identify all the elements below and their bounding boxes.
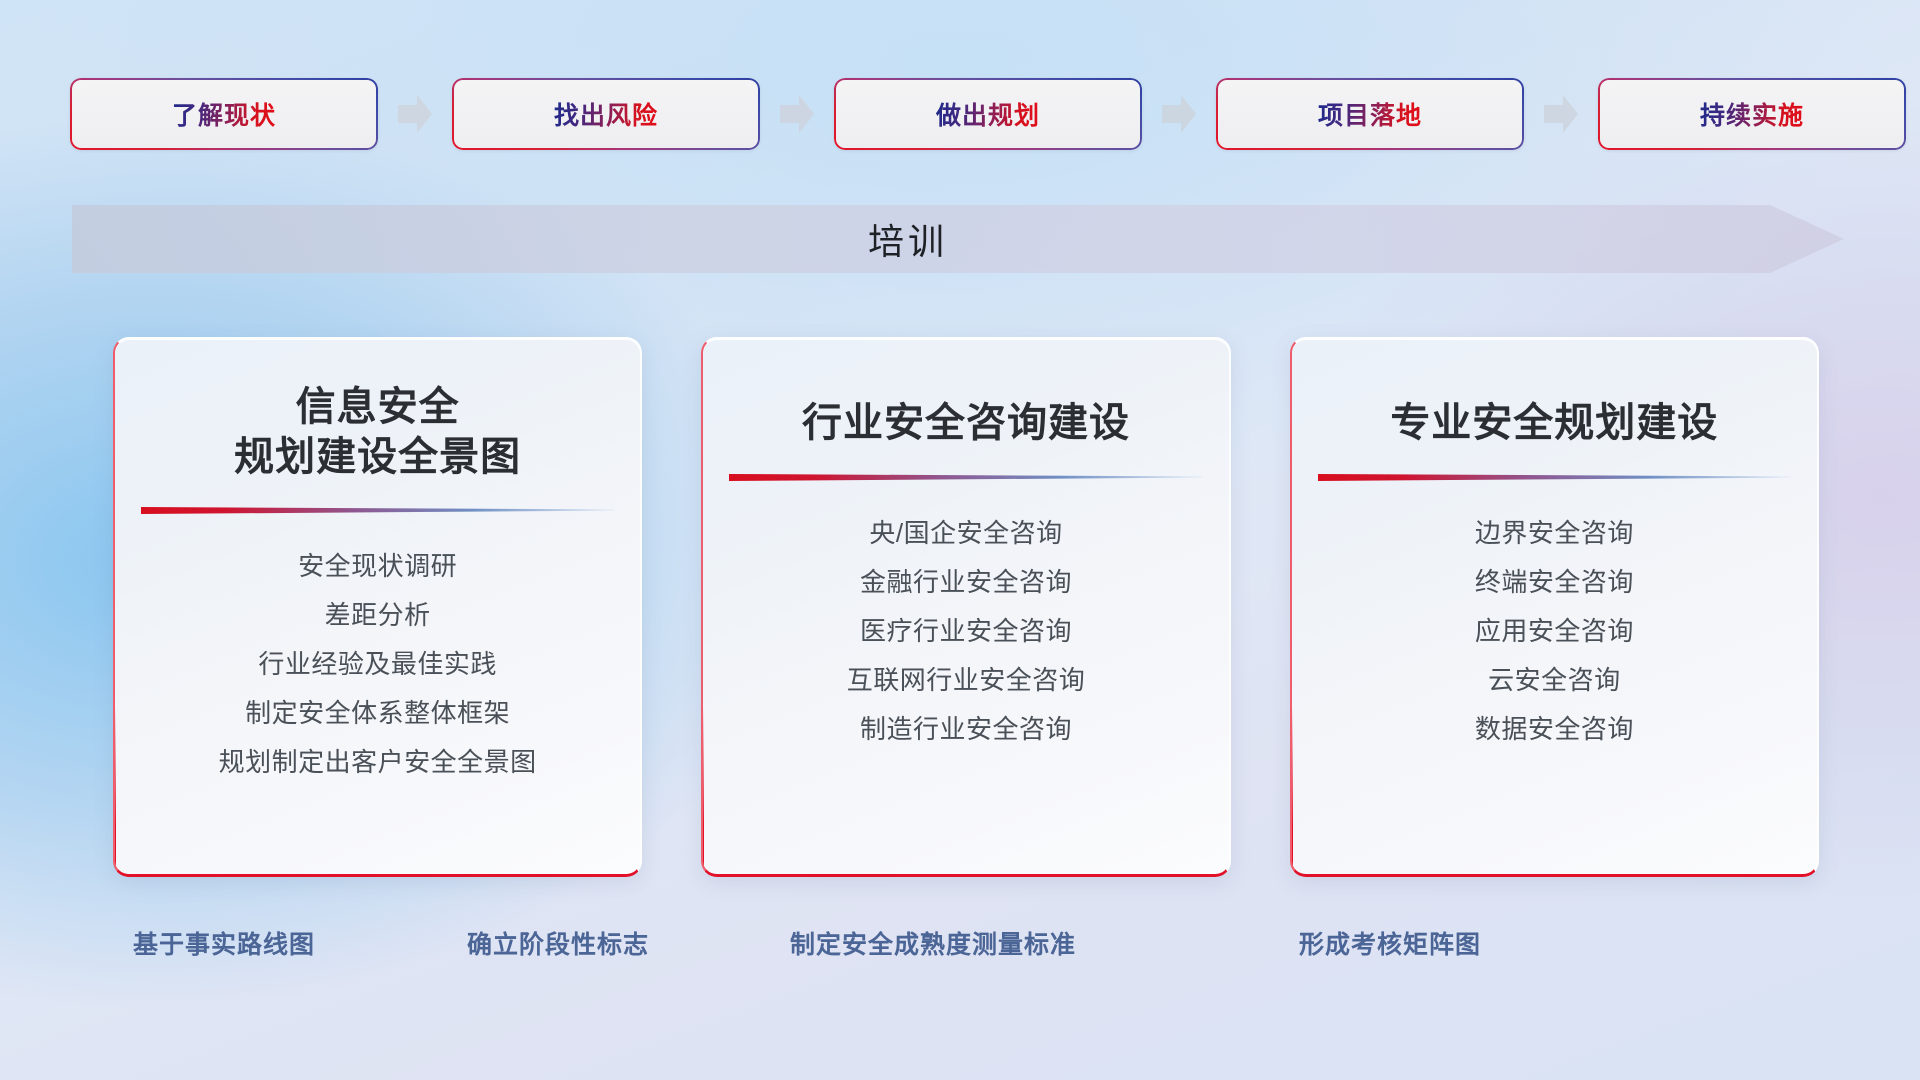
card-divider-wrap <box>729 471 1202 482</box>
list-item: 差距分析 <box>141 602 614 628</box>
card-professional-security-planning[interactable]: 专业安全规划建设 <box>1290 337 1819 877</box>
step-box-3[interactable]: 做出规划 <box>834 78 1142 150</box>
list-item: 云安全咨询 <box>1318 667 1791 693</box>
step-label-5: 持续实施 <box>1700 96 1804 132</box>
card-item-list: 边界安全咨询 终端安全咨询 应用安全咨询 云安全咨询 数据安全咨询 <box>1318 520 1791 742</box>
step-label-3: 做出规划 <box>936 96 1040 132</box>
list-item: 规划制定出客户安全全景图 <box>141 749 614 775</box>
caption-2: 确立阶段性标志 <box>467 925 649 961</box>
card-divider <box>1318 471 1791 482</box>
card-divider <box>141 504 614 515</box>
banner-title: 培训 <box>72 205 1844 273</box>
card-item-list: 安全现状调研 差距分析 行业经验及最佳实践 制定安全体系整体框架 规划制定出客户… <box>141 553 614 775</box>
process-step-row: 了解现状 找出风险 做出规划 项目落地 持续实施 <box>70 78 1860 150</box>
step-label-4: 项目落地 <box>1318 96 1422 132</box>
card-row: 信息安全 规划建设全景图 <box>113 337 1819 877</box>
training-banner: 培训 <box>72 205 1844 273</box>
list-item: 制定安全体系整体框架 <box>141 700 614 726</box>
card-item-list: 央/国企安全咨询 金融行业安全咨询 医疗行业安全咨询 互联网行业安全咨询 制造行… <box>729 520 1202 742</box>
step-box-2[interactable]: 找出风险 <box>452 78 760 150</box>
step-box-5[interactable]: 持续实施 <box>1598 78 1906 150</box>
list-item: 边界安全咨询 <box>1318 520 1791 546</box>
list-item: 医疗行业安全咨询 <box>729 618 1202 644</box>
chevron-right-icon <box>780 95 814 133</box>
list-item: 应用安全咨询 <box>1318 618 1791 644</box>
card-divider-wrap <box>141 504 614 515</box>
list-item: 安全现状调研 <box>141 553 614 579</box>
step-box-4[interactable]: 项目落地 <box>1216 78 1524 150</box>
card-title: 行业安全咨询建设 <box>729 399 1202 449</box>
list-item: 互联网行业安全咨询 <box>729 667 1202 693</box>
card-industry-security-consulting[interactable]: 行业安全咨询建设 <box>701 337 1230 877</box>
card-divider <box>729 471 1202 482</box>
caption-3: 制定安全成熟度测量标准 <box>790 925 1076 961</box>
list-item: 金融行业安全咨询 <box>729 569 1202 595</box>
slide-canvas: 了解现状 找出风险 做出规划 项目落地 持续实施 <box>0 0 1920 1080</box>
card-divider-wrap <box>1318 471 1791 482</box>
chevron-right-icon <box>1162 95 1196 133</box>
card-info-security-blueprint[interactable]: 信息安全 规划建设全景图 <box>113 337 642 877</box>
list-item: 央/国企安全咨询 <box>729 520 1202 546</box>
step-label-1: 了解现状 <box>172 96 276 132</box>
list-item: 行业经验及最佳实践 <box>141 651 614 677</box>
chevron-right-icon <box>1544 95 1578 133</box>
list-item: 终端安全咨询 <box>1318 569 1791 595</box>
step-label-2: 找出风险 <box>554 96 658 132</box>
card-title: 专业安全规划建设 <box>1318 399 1791 449</box>
step-box-1[interactable]: 了解现状 <box>70 78 378 150</box>
list-item: 数据安全咨询 <box>1318 716 1791 742</box>
card-title: 信息安全 规划建设全景图 <box>141 383 614 482</box>
caption-4: 形成考核矩阵图 <box>1299 925 1481 961</box>
caption-1: 基于事实路线图 <box>133 925 315 961</box>
list-item: 制造行业安全咨询 <box>729 716 1202 742</box>
chevron-right-icon <box>398 95 432 133</box>
